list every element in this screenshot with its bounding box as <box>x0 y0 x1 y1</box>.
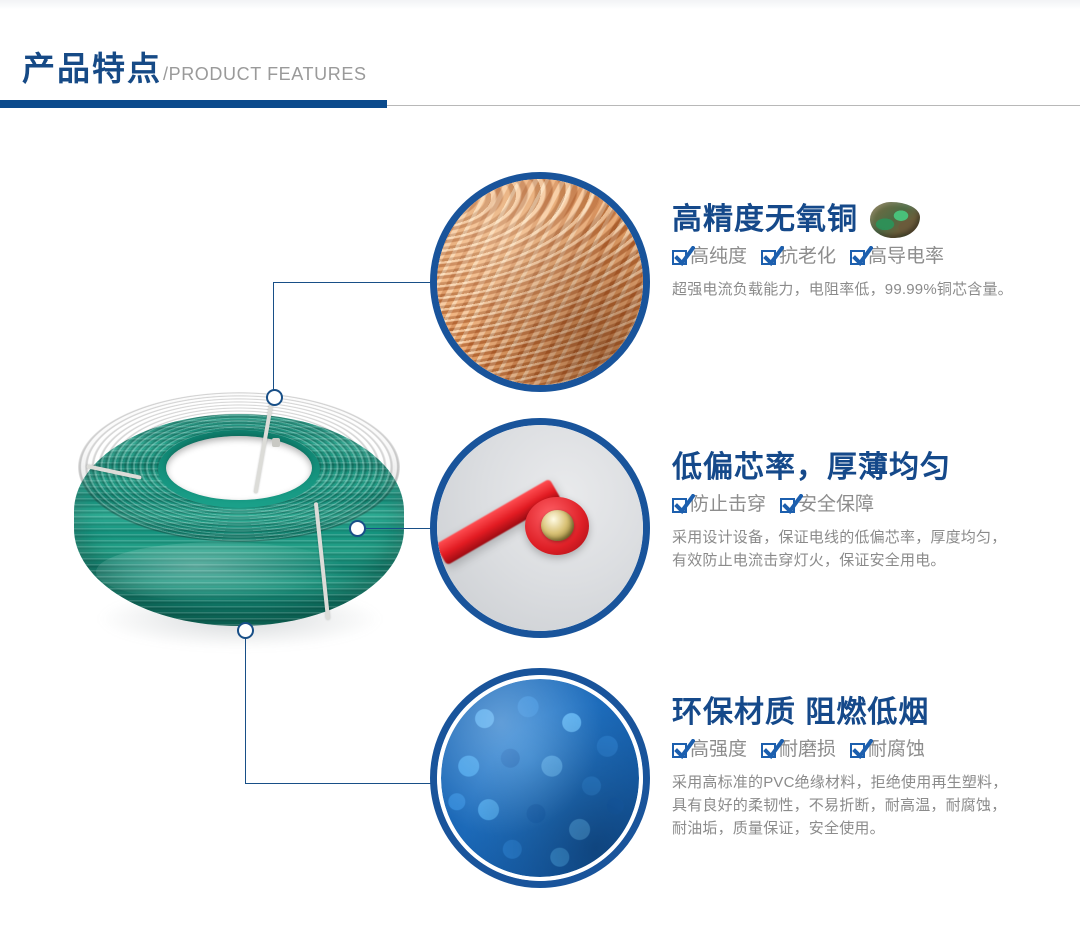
feature-image-circle-pvc <box>430 668 650 888</box>
feature-tag-label: 安全保障 <box>798 495 874 515</box>
coil-center-hole <box>166 436 312 500</box>
feature-title: 环保材质 阻燃低烟 <box>672 695 1072 731</box>
feature-title-text: 高精度无氧铜 <box>672 202 858 238</box>
feature-title-text: 环保材质 阻燃低烟 <box>672 695 929 731</box>
feature-tag-label: 高纯度 <box>690 247 747 267</box>
product-features-page: 产品特点 /PRODUCT FEATURES <box>0 0 1080 939</box>
checkbox-checked-icon <box>850 250 865 265</box>
checkbox-checked-icon <box>672 743 687 758</box>
red-wire-photo <box>437 425 643 631</box>
feature-tag: 耐磨损 <box>761 740 836 760</box>
feature-tag: 高强度 <box>672 740 747 760</box>
pvc-pellets-photo <box>437 675 643 881</box>
feature-tag: 耐腐蚀 <box>850 740 925 760</box>
feature-tag-list: 高纯度 抗老化 高导电率 <box>672 247 1072 267</box>
feature-block-eco-flame-retardant: 环保材质 阻燃低烟 高强度 耐磨损 耐腐蚀 采用高标准的 <box>672 695 1072 840</box>
feature-block-low-eccentricity: 低偏芯率，厚薄均匀 防止击穿 安全保障 采用设计设备，保证电线的低偏芯率，厚度均… <box>672 450 1072 572</box>
feature-tag: 高纯度 <box>672 247 747 267</box>
feature-tag-label: 耐腐蚀 <box>868 740 925 760</box>
feature-description: 采用高标准的PVC绝缘材料，拒绝使用再生塑料， 具有良好的柔韧性，不易折断，耐高… <box>672 771 1072 840</box>
section-header: 产品特点 /PRODUCT FEATURES <box>0 46 1080 108</box>
connector-line-3-vertical <box>245 630 246 784</box>
checkbox-checked-icon <box>850 743 865 758</box>
product-image-wire-coil <box>74 392 404 682</box>
connector-dot-1 <box>266 389 283 406</box>
copper-core <box>541 510 574 541</box>
checkbox-checked-icon <box>761 250 776 265</box>
feature-tag-label: 防止击穿 <box>690 495 766 515</box>
feature-tag-label: 高强度 <box>690 740 747 760</box>
copper-photo <box>437 179 643 385</box>
connector-dot-3 <box>237 622 254 639</box>
header-accent-bar <box>0 100 387 108</box>
feature-tag-list: 防止击穿 安全保障 <box>672 495 1072 515</box>
feature-tag-label: 抗老化 <box>779 247 836 267</box>
checkbox-checked-icon <box>780 498 795 513</box>
feature-description: 采用设计设备，保证电线的低偏芯率，厚度均匀， 有效防止电流击穿灯火，保证安全用电… <box>672 526 1072 572</box>
pvc-white-ring <box>437 675 643 881</box>
connector-line-3-horizontal <box>245 783 431 784</box>
checkbox-checked-icon <box>672 250 687 265</box>
connector-line-1-horizontal <box>273 282 430 283</box>
feature-description: 超强电流负载能力，电阻率低，99.99%铜芯含量。 <box>672 278 1072 301</box>
cable-tie-knot <box>272 438 280 447</box>
copper-shading <box>437 179 643 385</box>
feature-image-circle-copper <box>430 172 650 392</box>
feature-tag-label: 高导电率 <box>868 247 944 267</box>
checkbox-checked-icon <box>672 498 687 513</box>
feature-title: 低偏芯率，厚薄均匀 <box>672 450 1072 486</box>
feature-title-text: 低偏芯率，厚薄均匀 <box>672 450 951 486</box>
feature-image-circle-wire-section <box>430 418 650 638</box>
connector-line-1-vertical <box>273 282 274 392</box>
feature-tag-label: 耐磨损 <box>779 740 836 760</box>
feature-tag: 防止击穿 <box>672 495 766 515</box>
feature-block-oxygen-free-copper: 高精度无氧铜 高纯度 抗老化 高导电率 超 <box>672 202 1072 301</box>
feature-tag-list: 高强度 耐磨损 耐腐蚀 <box>672 740 1072 760</box>
page-title: 产品特点 <box>22 46 162 92</box>
feature-tag: 安全保障 <box>780 495 874 515</box>
top-band <box>0 0 1080 9</box>
checkbox-checked-icon <box>761 743 776 758</box>
connector-line-2-horizontal <box>365 528 431 529</box>
feature-tag: 抗老化 <box>761 247 836 267</box>
feature-tag: 高导电率 <box>850 247 944 267</box>
connector-dot-2 <box>349 520 366 537</box>
page-subtitle: /PRODUCT FEATURES <box>163 55 367 93</box>
feature-title: 高精度无氧铜 <box>672 202 1072 238</box>
copper-ore-icon <box>870 202 920 238</box>
